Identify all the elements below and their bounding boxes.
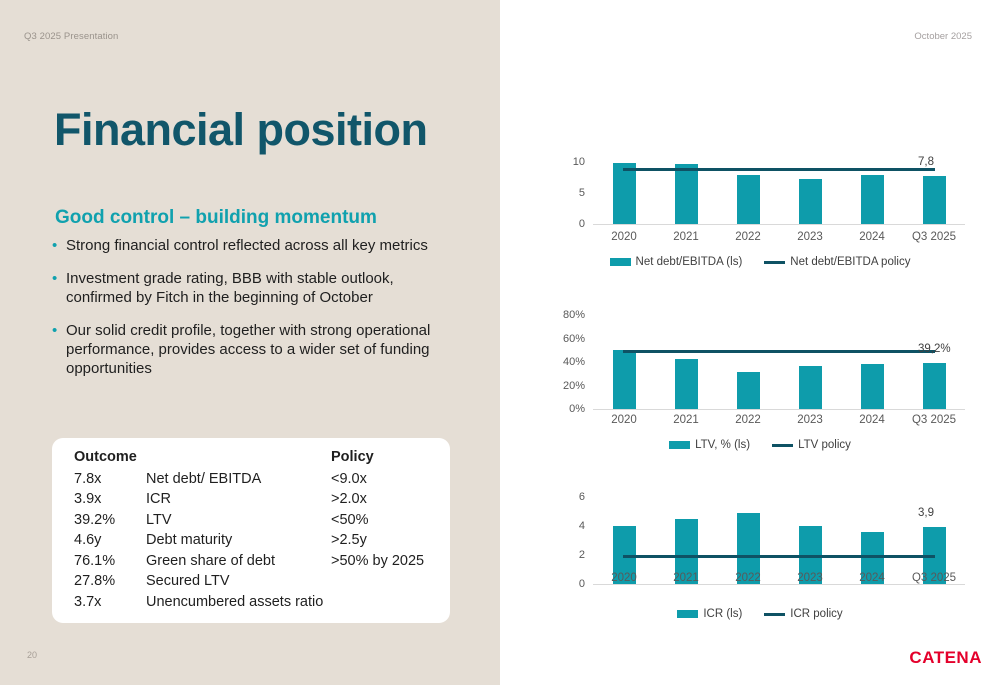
bar-slot <box>717 488 779 584</box>
list-item: • Our solid credit profile, together wit… <box>52 321 447 378</box>
cell-policy: >2.0x <box>331 489 434 510</box>
x-axis-tick-label: 2021 <box>655 414 717 426</box>
slide: Q3 2025 Presentation 20 Financial positi… <box>0 0 1000 685</box>
table-row: 7.8x Net debt/ EBITDA <9.0x <box>74 469 434 490</box>
bar-slot <box>841 488 903 584</box>
cell-metric: Secured LTV <box>146 571 331 592</box>
legend-series-label: Net debt/EBITDA (ls) <box>636 256 743 268</box>
list-item: • Investment grade rating, BBB with stab… <box>52 269 447 307</box>
x-axis-tick-label: 2020 <box>593 572 655 584</box>
legend-item-series[interactable]: ICR (ls) <box>677 608 742 620</box>
data-label: 39,2% <box>918 343 951 355</box>
plot-area <box>593 156 965 224</box>
policy-threshold-line <box>623 350 936 353</box>
cell-policy: <9.0x <box>331 469 434 490</box>
bar-2020[interactable] <box>613 350 636 409</box>
bar-2023[interactable] <box>799 366 822 409</box>
catena-logo: CATENA <box>909 648 982 668</box>
list-item-text: Our solid credit profile, together with … <box>66 321 447 378</box>
key-figures-table: Outcome Policy 7.8x Net debt/ EBITDA <9.… <box>74 447 434 612</box>
cell-outcome: 4.6y <box>74 530 146 551</box>
y-axis-tick-label: 10 <box>573 156 585 168</box>
bar-2022[interactable] <box>737 372 760 409</box>
y-axis-tick-label: 5 <box>579 187 585 199</box>
x-axis-tick-label: 2021 <box>655 572 717 584</box>
header-right-date: October 2025 <box>914 31 972 42</box>
table-row: 76.1% Green share of debt >50% by 2025 <box>74 551 434 572</box>
list-item-text: Strong financial control reflected acros… <box>66 236 447 255</box>
cell-metric: Green share of debt <box>146 551 331 572</box>
section-subtitle: Good control – building momentum <box>55 207 377 229</box>
header-left-text: Q3 2025 Presentation <box>24 31 118 42</box>
legend-series-label: LTV, % (ls) <box>695 439 750 451</box>
legend-item-policy[interactable]: LTV policy <box>772 439 851 451</box>
cell-policy: >2.5y <box>331 530 434 551</box>
bullet-dot-icon: • <box>52 321 66 378</box>
bar-2021[interactable] <box>675 164 698 224</box>
legend-item-series[interactable]: Net debt/EBITDA (ls) <box>610 256 743 268</box>
bullet-dot-icon: • <box>52 269 66 307</box>
page-title: Financial position <box>54 104 428 156</box>
x-axis-labels: 20202021202220232024Q3 2025 <box>593 414 965 426</box>
legend-bar-swatch-icon <box>677 610 698 618</box>
legend-item-series[interactable]: LTV, % (ls) <box>669 439 750 451</box>
y-axis-tick-label: 0 <box>579 218 585 230</box>
bar-2022[interactable] <box>737 175 760 224</box>
plot-area <box>593 488 965 584</box>
y-axis-tick-label: 40% <box>563 356 585 368</box>
policy-threshold-line <box>623 168 936 171</box>
cell-metric: LTV <box>146 510 331 531</box>
y-axis-tick-label: 2 <box>579 549 585 561</box>
x-axis-tick-label: 2021 <box>655 231 717 243</box>
cell-outcome: 27.8% <box>74 571 146 592</box>
data-label: 3,9 <box>918 507 934 519</box>
cell-outcome: 76.1% <box>74 551 146 572</box>
x-axis-tick-label: 2022 <box>717 231 779 243</box>
x-axis-labels: 20202021202220232024Q3 2025 <box>593 231 965 243</box>
bar-slot <box>903 306 965 409</box>
bar-q3-2025[interactable] <box>923 176 946 224</box>
bullet-list: • Strong financial control reflected acr… <box>52 236 447 392</box>
x-axis-tick-label: 2024 <box>841 572 903 584</box>
legend-line-swatch-icon <box>764 261 785 264</box>
cell-policy: <50% <box>331 510 434 531</box>
cell-metric: Debt maturity <box>146 530 331 551</box>
y-axis-labels: 0246 <box>545 488 589 584</box>
chart-ltv: 0%20%40%60%80%39,2%20202021202220232024Q… <box>545 296 975 454</box>
table-body: 7.8x Net debt/ EBITDA <9.0x 3.9x ICR >2.… <box>74 469 434 613</box>
bar-series <box>593 156 965 224</box>
bar-slot <box>841 306 903 409</box>
column-header-metric <box>146 447 331 469</box>
bar-slot <box>655 306 717 409</box>
y-axis-tick-label: 80% <box>563 309 585 321</box>
list-item: • Strong financial control reflected acr… <box>52 236 447 255</box>
bar-slot <box>593 156 655 224</box>
bar-slot <box>593 306 655 409</box>
x-axis-tick-label: 2024 <box>841 231 903 243</box>
x-axis-tick-label: 2022 <box>717 572 779 584</box>
legend-item-policy[interactable]: Net debt/EBITDA policy <box>764 256 910 268</box>
chart-legend: LTV, % (ls)LTV policy <box>545 439 975 451</box>
bar-slot <box>717 156 779 224</box>
y-axis-tick-label: 0 <box>579 578 585 590</box>
x-axis-tick-label: Q3 2025 <box>903 231 965 243</box>
bar-q3-2025[interactable] <box>923 363 946 409</box>
legend-series-label: ICR (ls) <box>703 608 742 620</box>
bar-slot <box>779 306 841 409</box>
cell-policy <box>331 592 434 613</box>
bar-slot <box>655 156 717 224</box>
x-axis-tick-label: 2023 <box>779 414 841 426</box>
x-axis-labels: 20202021202220232024Q3 2025 <box>593 572 965 584</box>
x-axis-line <box>593 409 965 410</box>
bar-slot <box>779 488 841 584</box>
chart-icr: 02463,920202021202220232024Q3 2025ICR (l… <box>545 468 975 630</box>
legend-bar-swatch-icon <box>669 441 690 449</box>
chart-legend: Net debt/EBITDA (ls)Net debt/EBITDA poli… <box>545 256 975 268</box>
cell-outcome: 3.7x <box>74 592 146 613</box>
list-item-text: Investment grade rating, BBB with stable… <box>66 269 447 307</box>
table-row: 3.9x ICR >2.0x <box>74 489 434 510</box>
bar-slot <box>717 306 779 409</box>
legend-policy-label: Net debt/EBITDA policy <box>790 256 910 268</box>
x-axis-tick-label: 2023 <box>779 231 841 243</box>
column-header-policy: Policy <box>331 447 434 469</box>
legend-item-policy[interactable]: ICR policy <box>764 608 842 620</box>
table-row: 4.6y Debt maturity >2.5y <box>74 530 434 551</box>
x-axis-tick-label: 2022 <box>717 414 779 426</box>
bar-2020[interactable] <box>613 163 636 224</box>
bar-2021[interactable] <box>675 359 698 409</box>
x-axis-tick-label: 2024 <box>841 414 903 426</box>
cell-outcome: 39.2% <box>74 510 146 531</box>
cell-metric: ICR <box>146 489 331 510</box>
bar-slot <box>841 156 903 224</box>
bar-2023[interactable] <box>799 179 822 224</box>
y-axis-tick-label: 60% <box>563 333 585 345</box>
cell-policy <box>331 571 434 592</box>
legend-bar-swatch-icon <box>610 258 631 266</box>
x-axis-tick-label: Q3 2025 <box>903 414 965 426</box>
y-axis-tick-label: 0% <box>569 403 585 415</box>
column-header-outcome: Outcome <box>74 447 146 469</box>
cell-outcome: 3.9x <box>74 489 146 510</box>
bar-2024[interactable] <box>861 175 884 224</box>
bar-series <box>593 488 965 584</box>
key-figures-card: Outcome Policy 7.8x Net debt/ EBITDA <9.… <box>52 438 450 623</box>
x-axis-line <box>593 584 965 585</box>
y-axis-labels: 0%20%40%60%80% <box>545 306 589 409</box>
bar-series <box>593 306 965 409</box>
x-axis-tick-label: 2020 <box>593 231 655 243</box>
legend-policy-label: LTV policy <box>798 439 851 451</box>
chart-legend: ICR (ls)ICR policy <box>545 608 975 620</box>
y-axis-tick-label: 6 <box>579 491 585 503</box>
table-row: 27.8% Secured LTV <box>74 571 434 592</box>
cell-metric: Unencumbered assets ratio <box>146 592 331 613</box>
bullet-dot-icon: • <box>52 236 66 255</box>
y-axis-tick-label: 4 <box>579 520 585 532</box>
bar-2024[interactable] <box>861 364 884 409</box>
policy-threshold-line <box>623 555 936 558</box>
table-row: 39.2% LTV <50% <box>74 510 434 531</box>
legend-line-swatch-icon <box>764 613 785 616</box>
plot-area <box>593 306 965 409</box>
y-axis-labels: 0510 <box>545 156 589 224</box>
bar-slot <box>779 156 841 224</box>
cell-metric: Net debt/ EBITDA <box>146 469 331 490</box>
x-axis-tick-label: Q3 2025 <box>903 572 965 584</box>
legend-line-swatch-icon <box>772 444 793 447</box>
bar-slot <box>903 488 965 584</box>
bar-slot <box>903 156 965 224</box>
x-axis-tick-label: 2023 <box>779 572 841 584</box>
data-label: 7,8 <box>918 156 934 168</box>
x-axis-line <box>593 224 965 225</box>
bar-slot <box>593 488 655 584</box>
x-axis-tick-label: 2020 <box>593 414 655 426</box>
y-axis-tick-label: 20% <box>563 380 585 392</box>
legend-policy-label: ICR policy <box>790 608 842 620</box>
table-row: 3.7x Unencumbered assets ratio <box>74 592 434 613</box>
table-header-row: Outcome Policy <box>74 447 434 469</box>
page-number: 20 <box>27 650 37 660</box>
cell-outcome: 7.8x <box>74 469 146 490</box>
cell-policy: >50% by 2025 <box>331 551 434 572</box>
chart-net-debt-ebitda: 05107,820202021202220232024Q3 2025Net de… <box>545 128 975 278</box>
bar-slot <box>655 488 717 584</box>
